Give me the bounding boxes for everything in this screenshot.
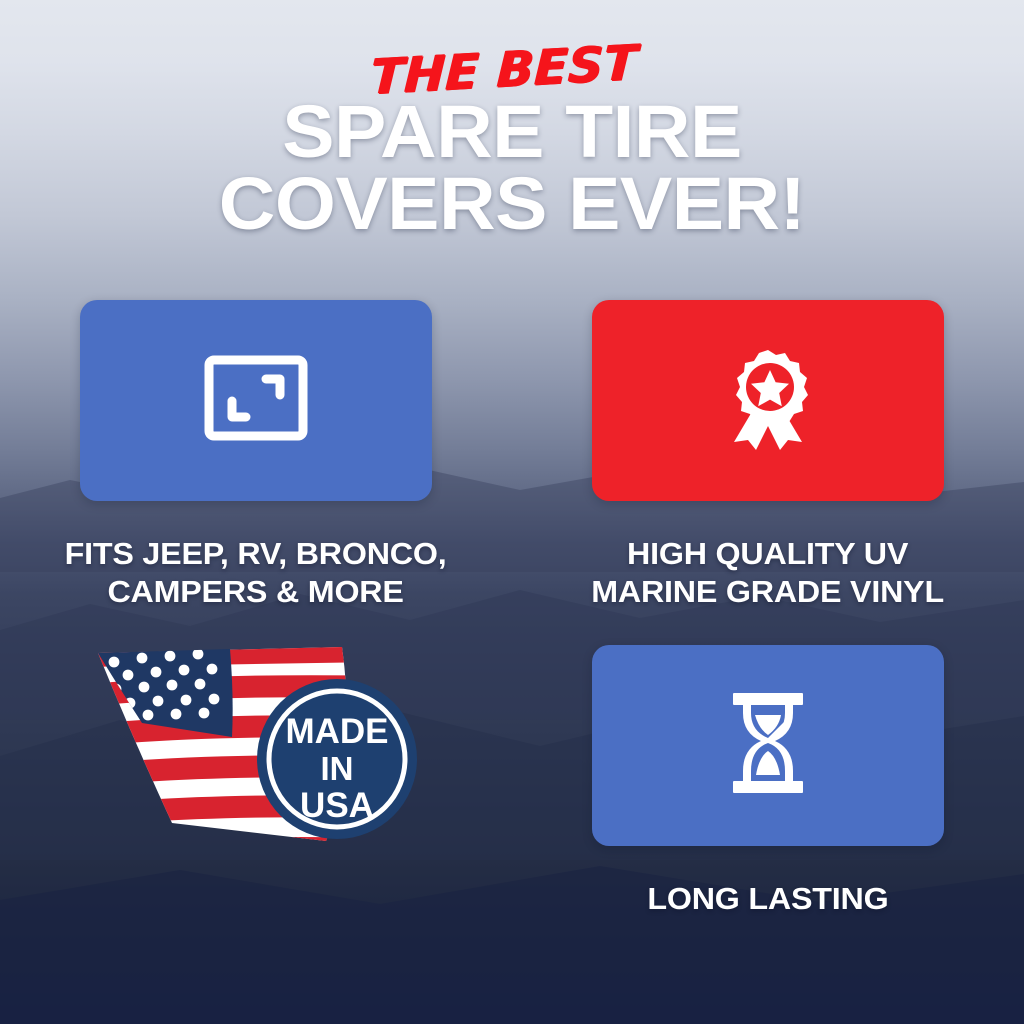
feature-tile-long-lasting [592,645,944,846]
feature-tile-high-quality-vinyl [592,300,944,501]
headline-line-2: COVERS EVER! [0,170,1024,238]
headline-line-1: SPARE TIRE [0,98,1024,166]
feature-tile-fits-vehicles [80,300,432,501]
fit-frame-icon [204,355,308,446]
feature-caption-long-lasting: LONG LASTING [647,880,888,918]
hourglass-icon [729,691,807,800]
made-in-usa-badge: MADE IN USA [257,679,417,839]
badge-line-3: USA [300,786,374,825]
feature-grid: FITS JEEP, RV, BRONCO, CAMPERS & MORE HI… [0,300,1024,917]
feature-card-high-quality-vinyl: HIGH QUALITY UV MARINE GRADE VINYL [512,300,1024,611]
feature-card-fits-vehicles: FITS JEEP, RV, BRONCO, CAMPERS & MORE [0,300,512,611]
headline-block: THE BEST SPARE TIRE COVERS EVER! [0,46,1024,238]
usa-flag-badge-icon: MADE IN USA [80,645,432,846]
feature-caption-high-quality-vinyl: HIGH QUALITY UV MARINE GRADE VINYL [592,535,945,611]
feature-card-made-in-usa: MADE IN USA [0,645,512,918]
feature-caption-fits-vehicles: FITS JEEP, RV, BRONCO, CAMPERS & MORE [65,535,447,611]
feature-card-long-lasting: LONG LASTING [512,645,1024,918]
award-ribbon-icon [720,346,816,455]
badge-line-2: IN [321,750,354,787]
badge-line-1: MADE [285,712,388,751]
